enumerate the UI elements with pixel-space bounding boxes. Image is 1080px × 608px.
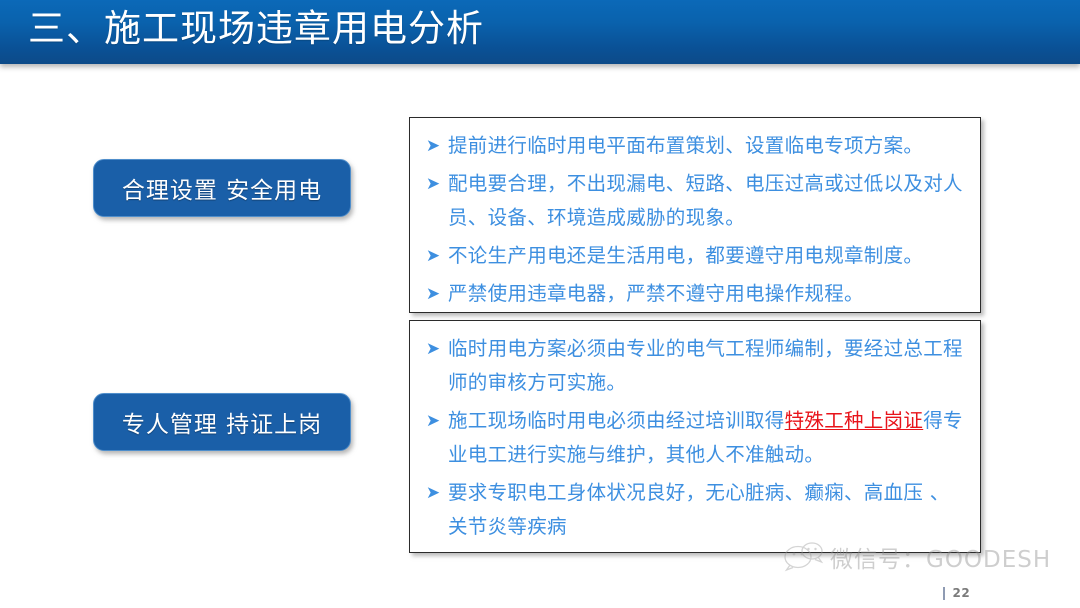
watermark: 微信号：GOODESH bbox=[782, 540, 1051, 574]
list-item-text: 施工现场临时用电必须由经过培训取得特殊工种上岗证得专业电工进行实施与维护，其他人… bbox=[448, 404, 966, 472]
list-item-text: 提前进行临时用电平面布置策划、设置临电专项方案。 bbox=[448, 129, 966, 163]
list-item: ➤ 提前进行临时用电平面布置策划、设置临电专项方案。 bbox=[418, 129, 966, 163]
list-item-text-plain: 临时用电方案必须由专业的电气工程师编制，要经过总工程师的审核方可实施。 bbox=[448, 337, 963, 394]
page-title: 三、施工现场违章用电分析 bbox=[28, 2, 1008, 55]
content-box-certified-staff: ➤ 临时用电方案必须由专业的电气工程师编制，要经过总工程师的审核方可实施。 ➤ … bbox=[409, 320, 981, 553]
list-item-text: 要求专职电工身体状况良好，无心脏病、癫痫、高血压 、关节炎等疾病 bbox=[448, 476, 966, 544]
list-item: ➤ 不论生产用电还是生活用电，都要遵守用电规章制度。 bbox=[418, 239, 966, 273]
list-item-text-plain: 施工现场临时用电必须由经过培训取得 bbox=[448, 409, 785, 432]
arrow-bullet-icon: ➤ bbox=[418, 167, 448, 201]
list-item: ➤ 临时用电方案必须由专业的电气工程师编制，要经过总工程师的审核方可实施。 bbox=[418, 332, 966, 400]
page-number-divider bbox=[943, 587, 945, 600]
arrow-bullet-icon: ➤ bbox=[418, 277, 448, 311]
category-pill-certified-staff[interactable]: 专人管理 持证上岗 bbox=[93, 393, 351, 451]
list-item: ➤ 严禁使用违章电器，严禁不遵守用电操作规程。 bbox=[418, 277, 966, 311]
category-pill-label: 专人管理 持证上岗 bbox=[122, 405, 322, 439]
arrow-bullet-icon: ➤ bbox=[418, 239, 448, 273]
bullet-list: ➤ 临时用电方案必须由专业的电气工程师编制，要经过总工程师的审核方可实施。 ➤ … bbox=[410, 321, 980, 556]
bullet-list: ➤ 提前进行临时用电平面布置策划、设置临电专项方案。 ➤ 配电要合理，不出现漏电… bbox=[410, 118, 980, 323]
page-number: 22 bbox=[943, 586, 970, 600]
arrow-bullet-icon: ➤ bbox=[418, 476, 448, 510]
list-item: ➤ 配电要合理，不出现漏电、短路、电压过高或过低以及对人员、设备、环境造成威胁的… bbox=[418, 167, 966, 235]
list-item: ➤ 要求专职电工身体状况良好，无心脏病、癫痫、高血压 、关节炎等疾病 bbox=[418, 476, 966, 544]
list-item-text: 配电要合理，不出现漏电、短路、电压过高或过低以及对人员、设备、环境造成威胁的现象… bbox=[448, 167, 966, 235]
category-pill-safe-power[interactable]: 合理设置 安全用电 bbox=[93, 159, 351, 217]
arrow-bullet-icon: ➤ bbox=[418, 332, 448, 366]
list-item-text: 不论生产用电还是生活用电，都要遵守用电规章制度。 bbox=[448, 239, 966, 273]
watermark-text: 微信号：GOODESH bbox=[830, 540, 1051, 574]
list-item-text: 临时用电方案必须由专业的电气工程师编制，要经过总工程师的审核方可实施。 bbox=[448, 332, 966, 400]
content-box-safe-power: ➤ 提前进行临时用电平面布置策划、设置临电专项方案。 ➤ 配电要合理，不出现漏电… bbox=[409, 117, 981, 313]
list-item-text-plain: 要求专职电工身体状况良好，无心脏病、癫痫、高血压 、关节炎等疾病 bbox=[448, 481, 950, 538]
page-number-text: 22 bbox=[953, 586, 971, 600]
arrow-bullet-icon: ➤ bbox=[418, 129, 448, 163]
list-item-text: 严禁使用违章电器，严禁不遵守用电操作规程。 bbox=[448, 277, 966, 311]
list-item: ➤ 施工现场临时用电必须由经过培训取得特殊工种上岗证得专业电工进行实施与维护，其… bbox=[418, 404, 966, 472]
category-pill-label: 合理设置 安全用电 bbox=[122, 171, 322, 205]
arrow-bullet-icon: ➤ bbox=[418, 404, 448, 438]
wechat-icon bbox=[782, 542, 826, 572]
highlighted-text: 特殊工种上岗证 bbox=[785, 409, 924, 432]
